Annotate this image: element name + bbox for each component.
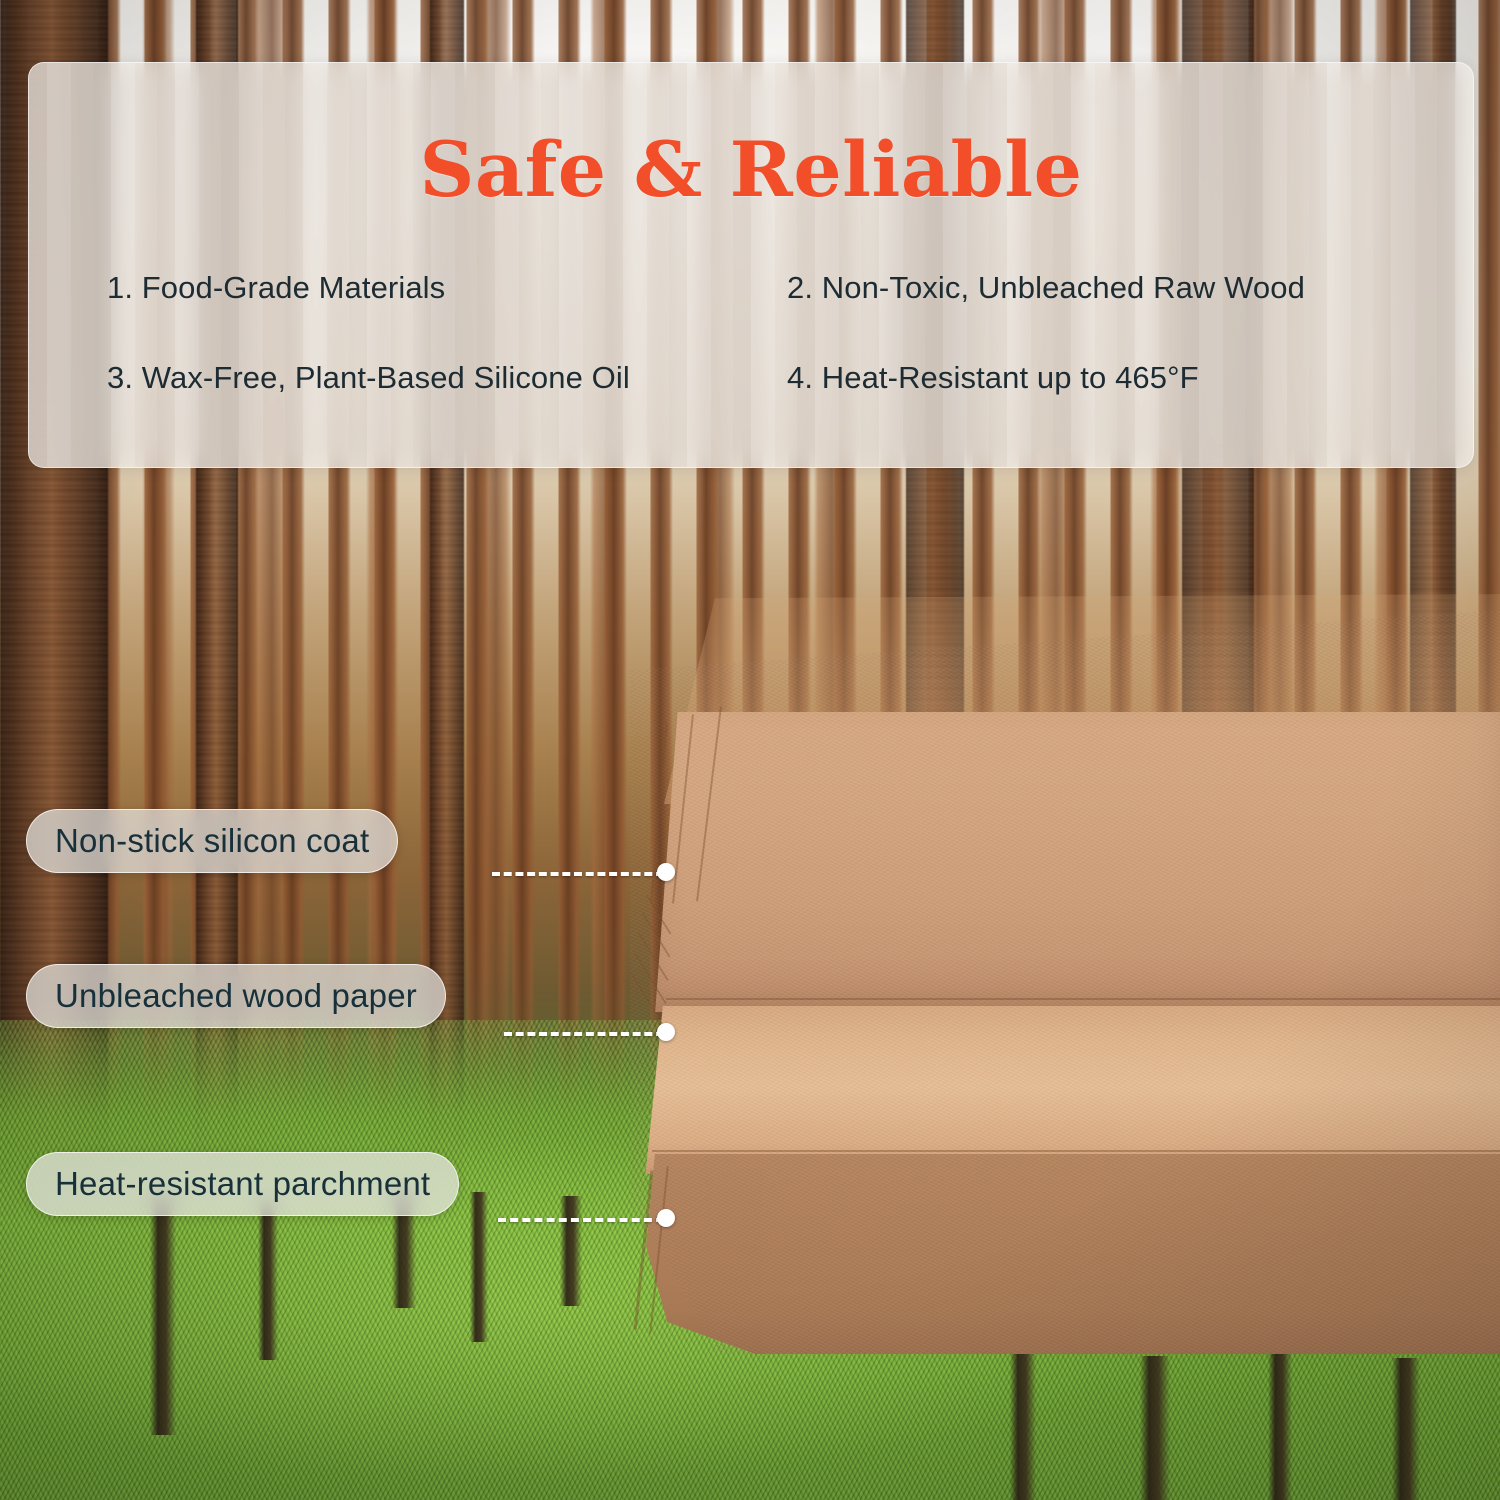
callout-connector-dot-2	[657, 1023, 675, 1041]
callout-label: Non-stick silicon coat	[55, 822, 369, 860]
callout-label: Heat-resistant parchment	[55, 1165, 430, 1203]
product-feature-image: Safe & Reliable 1. Food-Grade Materials …	[0, 0, 1500, 1500]
pan-seam-line	[652, 1150, 1500, 1152]
callout-connector-1	[492, 872, 664, 876]
callout-label: Unbleached wood paper	[55, 977, 417, 1015]
feature-item-3: 3. Wax-Free, Plant-Based Silicone Oil	[107, 360, 779, 396]
pan-mid-band	[642, 1006, 1500, 1174]
background-tree-trunk	[470, 1192, 488, 1342]
callout-connector-dot-3	[657, 1209, 675, 1227]
pan-upper-wall	[650, 712, 1500, 1012]
feature-panel: Safe & Reliable 1. Food-Grade Materials …	[28, 62, 1474, 468]
callout-heat-resistant-parchment: Heat-resistant parchment	[26, 1152, 459, 1216]
background-tree-trunk	[1392, 1358, 1420, 1500]
background-tree-trunk	[1010, 1352, 1036, 1500]
feature-item-4: 4. Heat-Resistant up to 465°F	[779, 360, 1473, 396]
pan-seam-line	[666, 998, 1500, 1000]
callout-connector-dot-1	[657, 863, 675, 881]
paper-baking-pan	[612, 594, 1500, 1354]
background-tree-trunk	[258, 1200, 278, 1360]
background-tree-trunk	[1268, 1350, 1292, 1500]
background-tree-trunk	[1140, 1356, 1170, 1500]
feature-item-1: 1. Food-Grade Materials	[107, 270, 779, 306]
background-tree-trunk	[560, 1196, 582, 1306]
callout-unbleached-wood-paper: Unbleached wood paper	[26, 964, 446, 1028]
feature-list: 1. Food-Grade Materials 2. Non-Toxic, Un…	[29, 270, 1473, 396]
feature-item-2: 2. Non-Toxic, Unbleached Raw Wood	[779, 270, 1473, 306]
background-tree-trunk	[150, 1195, 176, 1435]
page-title: Safe & Reliable	[29, 125, 1473, 214]
callout-connector-3	[498, 1218, 664, 1222]
pan-lower-body	[632, 1154, 1500, 1354]
callout-non-stick-silicon-coat: Non-stick silicon coat	[26, 809, 398, 873]
callout-connector-2	[504, 1032, 664, 1036]
